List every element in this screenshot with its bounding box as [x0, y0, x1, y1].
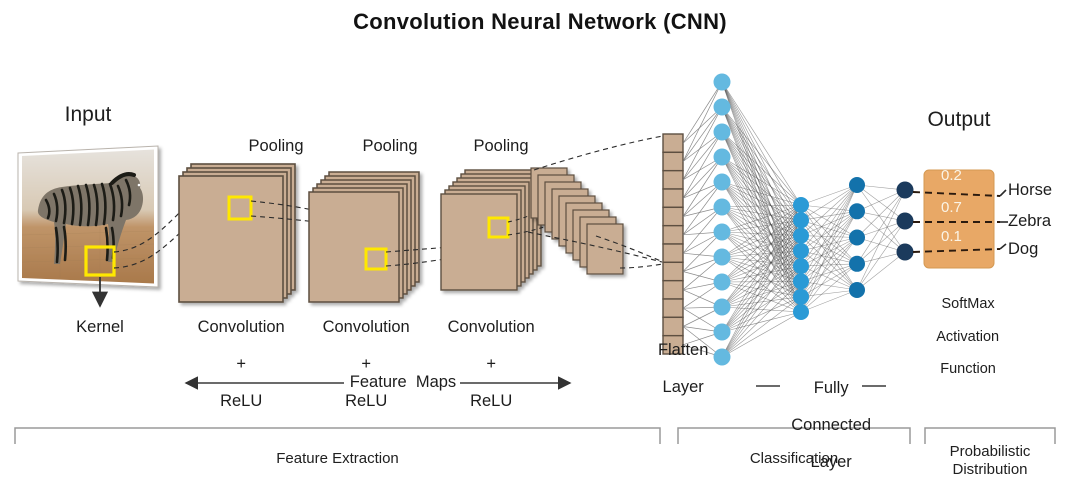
bracket-feature-extraction [15, 428, 660, 444]
fc-node-output [897, 182, 914, 199]
bracket-label-classification: Classification [678, 451, 910, 468]
fc-node-dense-1 [714, 249, 731, 266]
prob-value-dog: 0.1 [941, 229, 962, 246]
flatten-cell [663, 189, 683, 207]
fc-node-dense-1 [714, 149, 731, 166]
fc-node-dense-2 [793, 289, 809, 305]
conv-label-1: Convolution + ReLU [170, 300, 294, 429]
flatten-cell [663, 207, 683, 225]
flatten-layer [663, 134, 683, 354]
fc-node-dense-3 [849, 177, 865, 193]
fc-nodes [714, 74, 914, 366]
fc-node-dense-1 [714, 199, 731, 216]
bracket-label-probabilistic: ProbabilisticDistribution [925, 443, 1055, 478]
input-image [18, 146, 158, 287]
fc-node-dense-1 [714, 224, 731, 241]
fc-node-dense-3 [849, 256, 865, 272]
fc-node-dense-3 [849, 282, 865, 298]
conv-label-2-line2: + [361, 355, 371, 373]
flatten-cell [663, 226, 683, 244]
conv-label-1-line2: + [236, 355, 246, 373]
feature-maps-label: Feature Maps [344, 373, 462, 391]
fc-node-dense-1 [714, 299, 731, 316]
class-label-zebra: Zebra [1008, 212, 1051, 230]
prob-value-horse: 0.2 [941, 168, 962, 185]
conv-label-2: Convolution + ReLU [295, 300, 419, 429]
fc-layer-label: Fully Connected Layer [763, 361, 881, 490]
flatten-label-line2: Layer [663, 378, 704, 396]
conv-block-2 [309, 172, 419, 302]
fc-node-dense-3 [849, 230, 865, 246]
output-leaders [1000, 190, 1008, 249]
fc-node-dense-2 [793, 258, 809, 274]
flatten-cell [663, 152, 683, 170]
pooling-label-1: Pooling [230, 137, 322, 155]
flatten-layer-label: Flatten Layer [630, 323, 718, 415]
class-label-dog: Dog [1008, 240, 1038, 258]
conv-block-3 [441, 170, 541, 290]
fc-node-dense-1 [714, 74, 731, 91]
prob-value-zebra: 0.7 [941, 200, 962, 217]
conv-label-1-line3: ReLU [220, 392, 262, 410]
class-label-horse: Horse [1008, 181, 1052, 199]
input-label: Input [18, 103, 158, 127]
softmax-caption-line1: SoftMax [941, 296, 994, 312]
softmax-caption: SoftMax Activation Function [908, 280, 1012, 394]
fc-node-dense-1 [714, 174, 731, 191]
fc-node-dense-1 [714, 99, 731, 116]
conv-label-3-line2: + [486, 355, 496, 373]
conv-block-4 [531, 168, 623, 274]
flatten-cell [663, 134, 683, 152]
flatten-cell [663, 244, 683, 262]
fc-node-dense-2 [793, 212, 809, 228]
fc-node-dense-2 [793, 228, 809, 244]
fc-node-dense-2 [793, 243, 809, 259]
fc-node-dense-2 [793, 304, 809, 320]
conv-label-3-line1: Convolution [448, 318, 535, 336]
softmax-caption-line3: Function [940, 361, 996, 377]
section-brackets [15, 428, 1055, 444]
kernel-label: Kernel [50, 318, 150, 336]
softmax-caption-line2: Activation [936, 329, 999, 345]
flatten-label-line1: Flatten [658, 341, 708, 359]
conv-label-2-line1: Convolution [323, 318, 410, 336]
pooling-label-2: Pooling [344, 137, 436, 155]
fc-node-output [897, 244, 914, 261]
flatten-cell [663, 171, 683, 189]
fc-node-dense-2 [793, 197, 809, 213]
bracket-probabilistic [925, 428, 1055, 444]
cnn-diagram: Convolution Neural Network (CNN) [0, 0, 1080, 483]
conv-label-1-line1: Convolution [198, 318, 285, 336]
fc-node-dense-2 [793, 273, 809, 289]
fc-node-dense-1 [714, 124, 731, 141]
flatten-cell [663, 281, 683, 299]
output-label: Output [889, 108, 1029, 132]
conv-label-3: Convolution + ReLU [420, 300, 544, 429]
flatten-cell [663, 299, 683, 317]
conv-label-2-line3: ReLU [345, 392, 387, 410]
pooling-label-3: Pooling [455, 137, 547, 155]
conv-label-3-line3: ReLU [470, 392, 512, 410]
conv-block-1 [179, 164, 295, 302]
fc-node-dense-1 [714, 274, 731, 291]
fc-label-line1: Fully [814, 379, 849, 397]
fc-node-dense-3 [849, 203, 865, 219]
flatten-cell [663, 262, 683, 280]
bracket-label-feature-extraction: Feature Extraction [15, 451, 660, 468]
fc-node-output [897, 213, 914, 230]
fc-label-line2: Connected [791, 416, 871, 434]
